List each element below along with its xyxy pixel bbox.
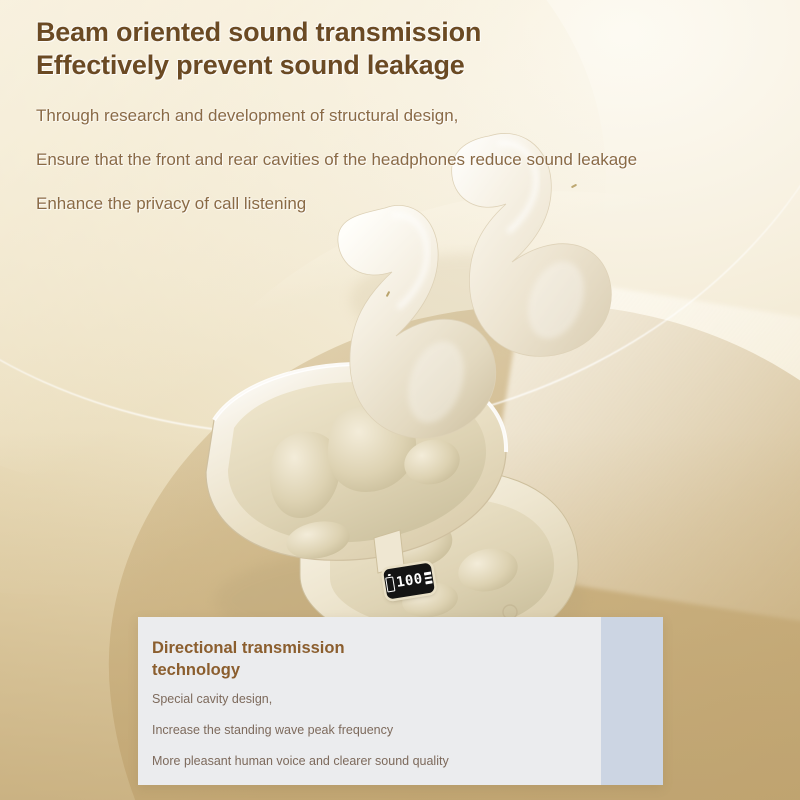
feature-card-heading-line-1: Directional transmission <box>152 637 482 659</box>
headline-block: Beam oriented sound transmission Effecti… <box>36 16 776 82</box>
headline-line-1: Beam oriented sound transmission <box>36 16 776 49</box>
subtext-line-1: Through research and development of stru… <box>36 94 792 138</box>
product-marketing-banner: Beam oriented sound transmission Effecti… <box>0 0 800 800</box>
feature-card-body-line-1: Special cavity design, <box>152 687 482 712</box>
signal-bars-icon <box>424 572 433 584</box>
feature-card-text: Directional transmission technology Spec… <box>152 637 482 774</box>
feature-card-heading-line-2: technology <box>152 659 482 681</box>
subtext-line-3: Enhance the privacy of call listening <box>36 182 792 226</box>
feature-card-body-line-3: More pleasant human voice and clearer so… <box>152 749 482 774</box>
battery-icon <box>385 576 395 592</box>
headline-line-2: Effectively prevent sound leakage <box>36 49 776 82</box>
feature-card-body-line-2: Increase the standing wave peak frequenc… <box>152 718 482 743</box>
feature-card-accent-strip <box>601 617 663 785</box>
subtext-block: Through research and development of stru… <box>36 94 792 226</box>
feature-card: Directional transmission technology Spec… <box>138 617 663 785</box>
subtext-line-2: Ensure that the front and rear cavities … <box>36 138 792 182</box>
battery-percentage: 100 <box>395 572 423 590</box>
